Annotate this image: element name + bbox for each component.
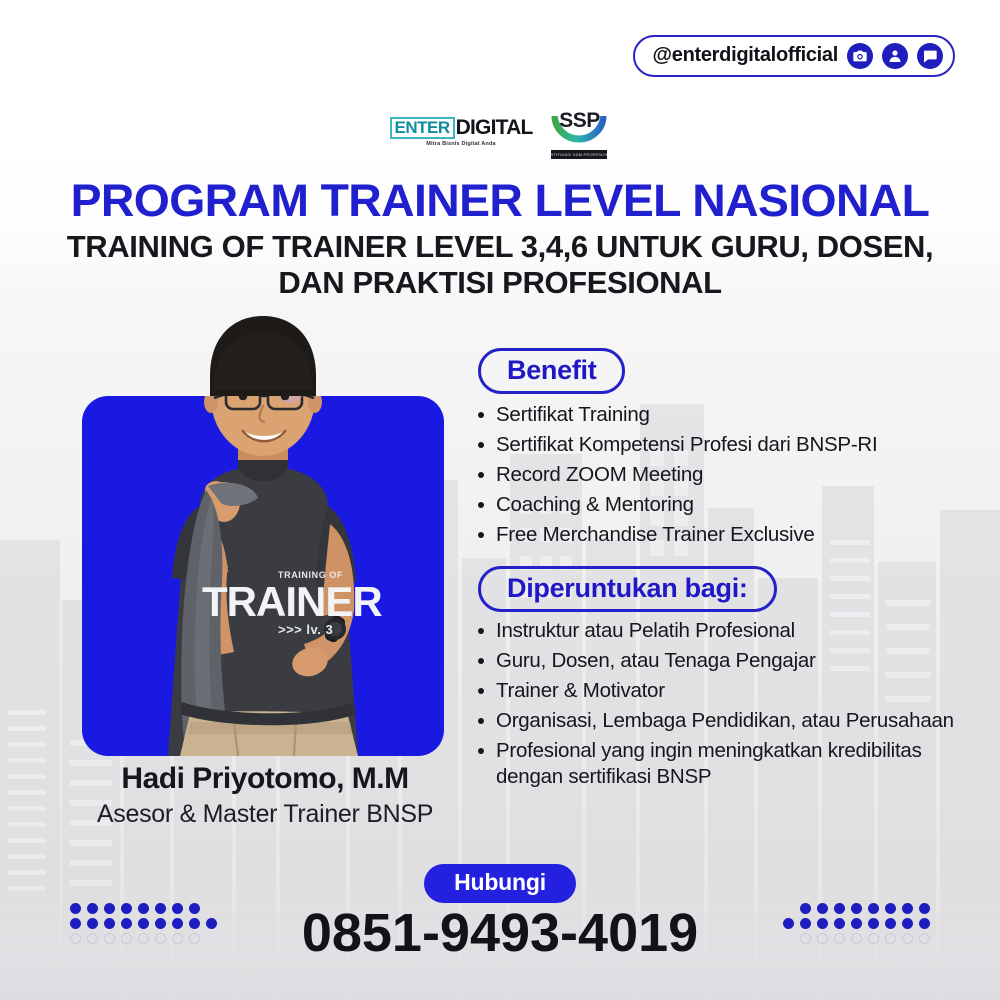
svg-text:>>> lv. 3: >>> lv. 3 [278,622,333,637]
speaker-head [210,316,316,402]
benefit-title-pill: Benefit [478,348,625,394]
audience-title-pill: Diperuntukan bagi: [478,566,777,612]
enter-digital-wordmark: ENTER DIGITAL [390,116,533,139]
list-item: Guru, Dosen, atau Tenaga Pengajar [474,648,954,674]
ssp-logo: SSP SERTIFIKASI SDM PROFESIONAL [548,108,610,159]
dot-row-hollow [800,933,930,944]
dot-row [70,903,200,914]
list-item: Profesional yang ingin meningkatkan kred… [474,738,954,790]
list-item: Trainer & Motivator [474,678,954,704]
chat-icon[interactable] [917,43,943,69]
social-handle-badge[interactable]: @enterdigitalofficial [633,35,955,77]
enter-digital-tagline: Mitra Bisnis Digital Anda [426,141,496,147]
hubungi-label: Hubungi [424,864,576,903]
list-item: Sertifikat Training [474,402,944,428]
enter-digital-logo: ENTER DIGITAL Mitra Bisnis Digital Anda [390,116,533,152]
dot-row [783,918,930,929]
speaker-illustration: TRAINING OF TRAINER >>> lv. 3 [82,310,444,756]
enter-mark: ENTER [390,117,455,140]
poster-canvas: @enterdigitalofficial ENTER DIGITAL [0,0,1000,1000]
benefit-title: Benefit [478,348,625,394]
speaker-name: Hadi Priyotomo, M.M [40,762,490,795]
digital-word: DIGITAL [456,117,533,138]
list-item: Coaching & Mentoring [474,492,944,518]
speaker-role: Asesor & Master Trainer BNSP [40,800,490,829]
headline: PROGRAM TRAINER LEVEL NASIONAL [0,178,1000,223]
dot-row-hollow [70,933,200,944]
subheadline: TRAINING OF TRAINER LEVEL 3,4,6 UNTUK GU… [60,229,940,301]
handle-text: @enterdigitalofficial [653,45,838,67]
dot-pattern-left [70,903,217,944]
benefit-list: Sertifikat Training Sertifikat Kompetens… [474,402,944,552]
camera-icon[interactable] [847,43,873,69]
speaker-photo: TRAINING OF TRAINER >>> lv. 3 [82,310,444,756]
list-item: Organisasi, Lembaga Pendidikan, atau Per… [474,708,954,734]
dot-pattern-right [783,903,930,944]
person-icon[interactable] [882,43,908,69]
dot-row [800,903,930,914]
audience-list: Instruktur atau Pelatih Profesional Guru… [474,618,954,794]
ssp-mark: SSP [550,108,608,148]
list-item: Sertifikat Kompetensi Profesi dari BNSP-… [474,432,944,458]
ssp-name: SSP [550,109,608,133]
list-item: Instruktur atau Pelatih Profesional [474,618,954,644]
svg-text:TRAINER: TRAINER [202,578,382,625]
hubungi-cta[interactable]: Hubungi [0,864,1000,903]
list-item: Free Merchandise Trainer Exclusive [474,522,944,548]
list-item: Record ZOOM Meeting [474,462,944,488]
logo-row: ENTER DIGITAL Mitra Bisnis Digital Anda [0,108,1000,159]
dot-row [70,918,217,929]
ssp-bar-text: SERTIFIKASI SDM PROFESIONAL [551,150,607,159]
audience-title: Diperuntukan bagi: [478,566,777,612]
